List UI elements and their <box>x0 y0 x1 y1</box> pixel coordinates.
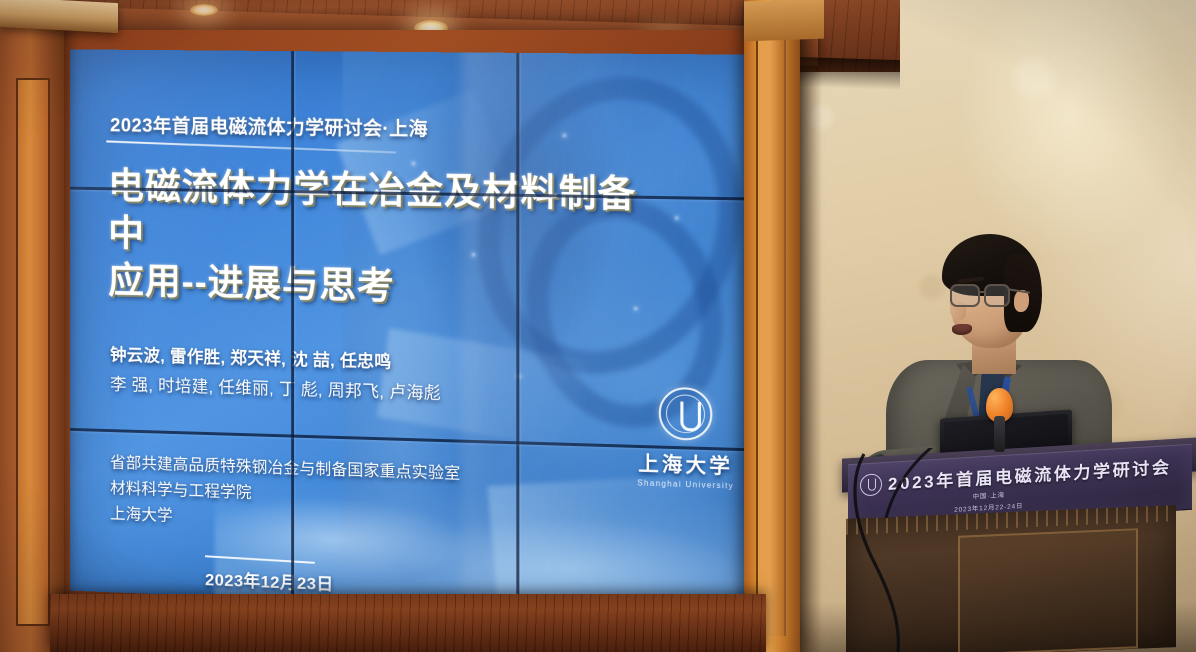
video-wall[interactable]: 2023年首届电磁流体力学研讨会·上海 电磁流体力学在冶金及材料制备中 应用--… <box>70 49 758 617</box>
slide-authors: 钟云波, 雷作胜, 郑天祥, 沈 喆, 任忠鸣 李 强, 时培建, 任维丽, 丁… <box>110 341 708 417</box>
slide-affiliation: 省部共建高品质特殊钢冶金与制备国家重点实验室 材料科学与工程学院 上海大学 <box>110 451 708 549</box>
right-pillar-cap <box>744 0 824 41</box>
shanghai-university-seal-icon <box>860 473 882 496</box>
podium-front-panel <box>958 528 1138 652</box>
university-name-cn: 上海大学 <box>624 447 747 480</box>
slide-header-rule <box>106 140 396 153</box>
podium: 2023年首届电磁流体力学研讨会 中国·上海 2023年12月22-24日 <box>842 448 1196 652</box>
wood-grain <box>50 594 766 652</box>
left-pillar <box>0 18 64 652</box>
glasses-icon <box>946 284 1022 310</box>
glasses-lens-right <box>984 284 1010 307</box>
glasses-bridge <box>979 291 986 293</box>
video-wall-seam-vertical <box>516 49 519 617</box>
slide-university-logo: 上海大学 Shanghai University <box>624 386 747 491</box>
video-wall-base-trim <box>50 594 766 652</box>
shanghai-university-seal-icon <box>659 387 713 441</box>
right-pillar-inset <box>756 36 786 636</box>
left-pillar-inset <box>16 78 50 626</box>
title-slide: 2023年首届电磁流体力学研讨会·上海 电磁流体力学在冶金及材料制备中 应用--… <box>70 49 758 617</box>
slide-header: 2023年首届电磁流体力学研讨会·上海 <box>110 111 428 142</box>
ceiling-downlight <box>190 4 218 16</box>
wall-corner-shadow <box>800 0 822 652</box>
slide-title: 电磁流体力学在冶金及材料制备中 应用--进展与思考 <box>108 163 665 317</box>
video-wall-seam-vertical <box>291 49 294 617</box>
microphone-stem <box>994 416 1005 452</box>
slide-date: 2023年12月23日 <box>205 565 334 595</box>
slide-title-line-1: 电磁流体力学在冶金及材料制备中 <box>108 163 665 269</box>
slide-title-line-2: 应用--进展与思考 <box>108 257 665 317</box>
slide-date-rule <box>205 555 315 564</box>
glasses-lens-left <box>950 284 980 307</box>
conference-scene: 2023年首届电磁流体力学研讨会·上海 电磁流体力学在冶金及材料制备中 应用--… <box>0 0 1196 652</box>
right-pillar <box>744 0 800 652</box>
